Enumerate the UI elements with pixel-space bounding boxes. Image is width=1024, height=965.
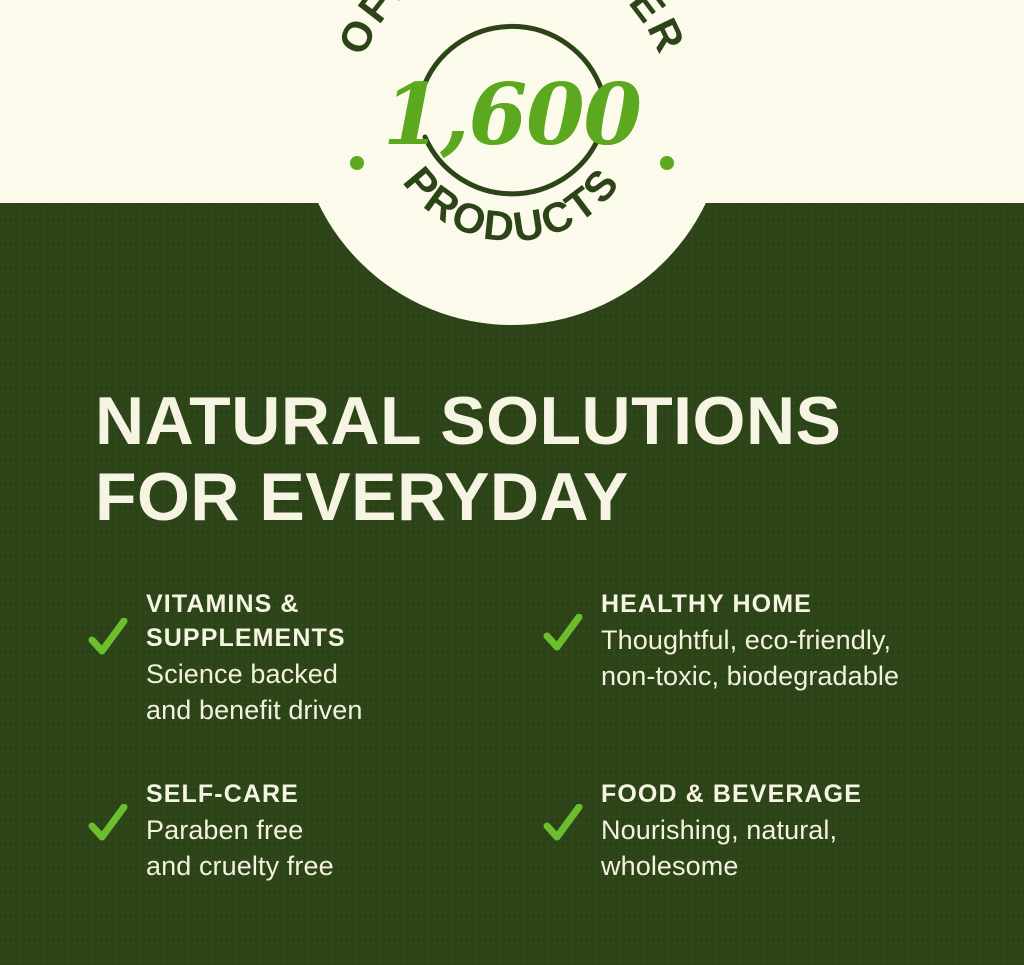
check-icon bbox=[88, 618, 128, 658]
separator-dot-right bbox=[660, 156, 674, 170]
feature-item-food-beverage: FOOD & BEVERAGE Nourishing, natural, who… bbox=[543, 778, 988, 884]
check-wrap bbox=[88, 778, 146, 844]
feature-title-line-2: SUPPLEMENTS bbox=[146, 622, 543, 654]
products-badge: OFFERING OVER PRODUCTS 1,600 bbox=[297, 0, 727, 325]
headline-line-2: FOR EVERYDAY bbox=[95, 459, 975, 535]
feature-text: HEALTHY HOME Thoughtful, eco-friendly, n… bbox=[601, 588, 988, 694]
feature-title: HEALTHY HOME bbox=[601, 588, 988, 620]
feature-item-self-care: SELF-CARE Paraben free and cruelty free bbox=[88, 778, 543, 884]
feature-desc-line-2: and benefit driven bbox=[146, 692, 543, 728]
headline-line-1: NATURAL SOLUTIONS bbox=[95, 383, 975, 459]
feature-item-healthy-home: HEALTHY HOME Thoughtful, eco-friendly, n… bbox=[543, 588, 988, 728]
feature-desc-line-1: Science backed bbox=[146, 656, 543, 692]
separator-dot-left bbox=[350, 156, 364, 170]
badge-inner-arc-top bbox=[422, 26, 602, 91]
feature-list: VITAMINS & SUPPLEMENTS Science backed an… bbox=[88, 588, 988, 884]
feature-item-vitamins-supplements: VITAMINS & SUPPLEMENTS Science backed an… bbox=[88, 588, 543, 728]
check-wrap bbox=[88, 588, 146, 658]
check-icon bbox=[543, 614, 583, 654]
feature-desc-line-1: Nourishing, natural, bbox=[601, 812, 988, 848]
feature-desc-line-2: and cruelty free bbox=[146, 848, 543, 884]
check-wrap bbox=[543, 588, 601, 654]
badge-graphic: OFFERING OVER PRODUCTS bbox=[297, 0, 727, 325]
feature-text: FOOD & BEVERAGE Nourishing, natural, who… bbox=[601, 778, 988, 884]
check-icon bbox=[543, 804, 583, 844]
feature-title: FOOD & BEVERAGE bbox=[601, 778, 988, 810]
check-icon bbox=[88, 804, 128, 844]
feature-desc-line-2: non-toxic, biodegradable bbox=[601, 658, 988, 694]
check-wrap bbox=[543, 778, 601, 844]
feature-title: SELF-CARE bbox=[146, 778, 543, 810]
feature-desc-line-2: wholesome bbox=[601, 848, 988, 884]
feature-title-line-1: VITAMINS & bbox=[146, 588, 543, 620]
promo-poster: OFFERING OVER PRODUCTS 1,600 NATURAL SOL… bbox=[0, 0, 1024, 965]
badge-top-arc-text: OFFERING OVER bbox=[329, 0, 695, 61]
page-title: NATURAL SOLUTIONS FOR EVERYDAY bbox=[95, 383, 975, 535]
feature-desc-line-1: Thoughtful, eco-friendly, bbox=[601, 622, 988, 658]
feature-text: SELF-CARE Paraben free and cruelty free bbox=[146, 778, 543, 884]
feature-desc-line-1: Paraben free bbox=[146, 812, 543, 848]
badge-bottom-arc-text: PRODUCTS bbox=[395, 158, 630, 251]
feature-text: VITAMINS & SUPPLEMENTS Science backed an… bbox=[146, 588, 543, 728]
